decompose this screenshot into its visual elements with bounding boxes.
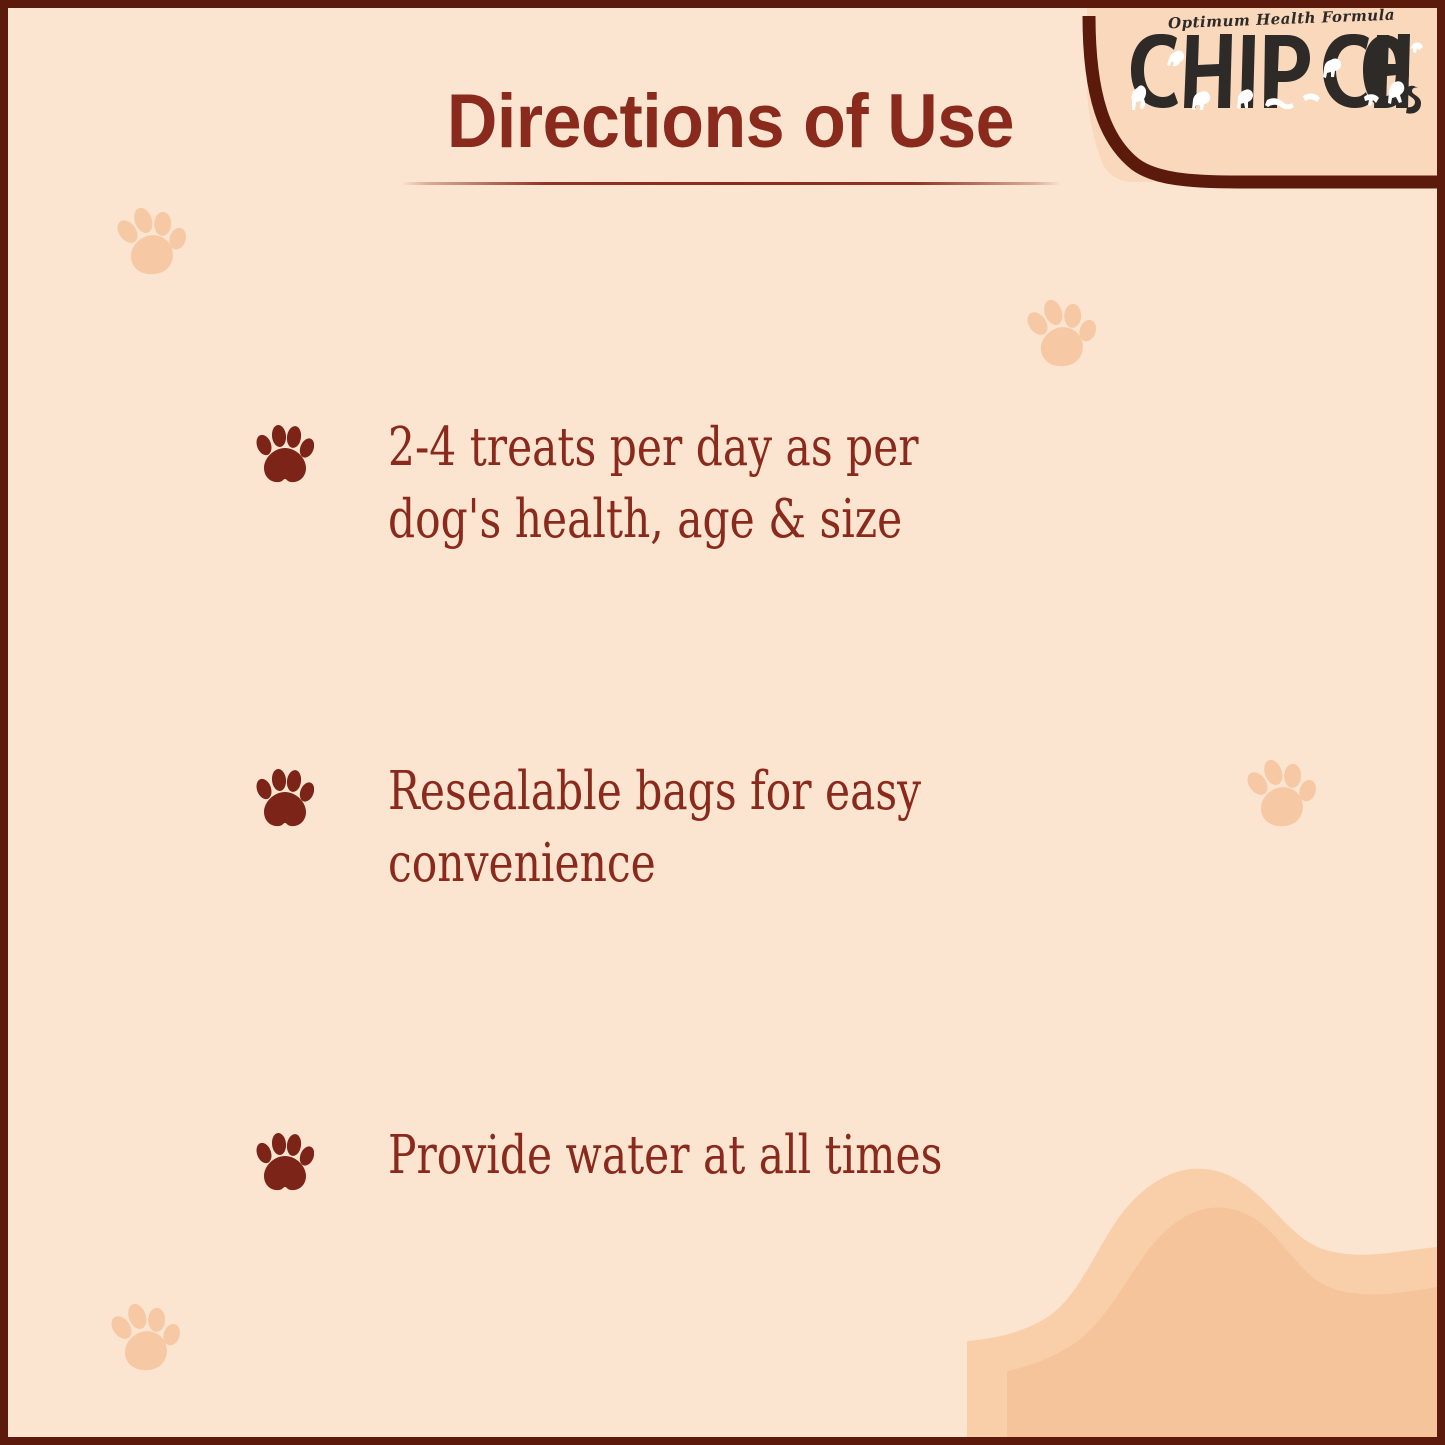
decor-paw-top-left — [108, 196, 197, 289]
list-item: Provide water at all times — [256, 1120, 1136, 1194]
poster-canvas: Directions of Use Optimum Health Formula — [0, 0, 1445, 1445]
decorative-blob-front — [1007, 1177, 1437, 1437]
list-item-text: Resealable bags for easy convenience — [388, 756, 986, 900]
paw-print-icon — [256, 424, 314, 486]
list-item: 2-4 treats per day as per dog's health, … — [256, 412, 1136, 556]
title-underline-rule — [401, 182, 1061, 185]
list-item: Resealable bags for easy convenience — [256, 756, 1136, 900]
logo-tagline: Optimum Health Formula — [1168, 6, 1396, 33]
list-gap — [256, 900, 1136, 1120]
paw-print-icon — [256, 1132, 314, 1194]
paw-print-icon — [256, 768, 314, 830]
decor-paw-upper-right — [1018, 288, 1107, 381]
decor-paw-bottom-left — [102, 1292, 191, 1385]
heading-block: Directions of Use — [8, 84, 1445, 185]
page-title: Directions of Use — [66, 84, 1395, 160]
directions-list: 2-4 treats per day as per dog's health, … — [256, 412, 1136, 1194]
list-gap — [256, 556, 1136, 756]
decor-paw-mid-right — [1238, 748, 1327, 841]
list-item-text: 2-4 treats per day as per dog's health, … — [388, 412, 986, 556]
list-item-text: Provide water at all times — [388, 1120, 986, 1192]
